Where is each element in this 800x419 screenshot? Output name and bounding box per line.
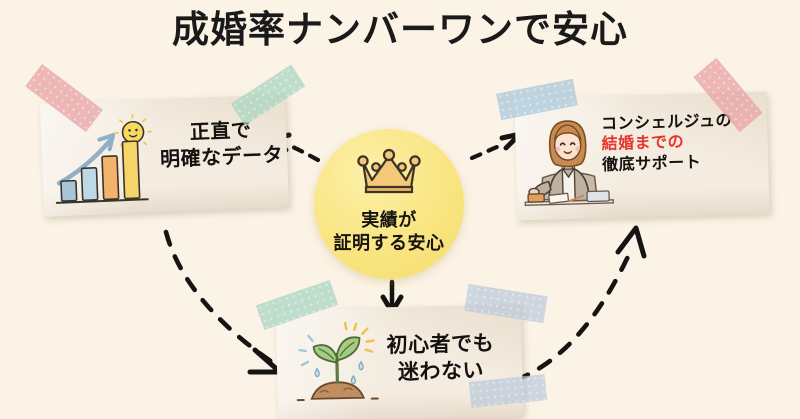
infographic-canvas: 成婚率ナンバーワンで安心 <box>0 0 800 419</box>
center-badge-line1: 実績が <box>314 209 464 232</box>
arrow-badge-to-support <box>472 134 520 158</box>
card-support-line1: コンシェルジュの <box>601 110 732 134</box>
card-support-line3: 徹底サポート <box>602 151 733 175</box>
card-data-text: 正直で 明確なデータ <box>159 116 284 172</box>
center-badge-label: 実績が 証明する安心 <box>314 209 464 256</box>
card-beginner-line1: 初心者でも <box>386 330 494 359</box>
card-beginner-text: 初心者でも 迷わない <box>386 330 495 386</box>
sprout-icon <box>288 319 386 409</box>
card-data-line2: 明確なデータ <box>160 142 284 173</box>
center-badge: 実績が 証明する安心 <box>314 129 464 279</box>
card-support-text: コンシェルジュの 結婚までの 徹底サポート <box>601 110 734 175</box>
bar-chart-growth-icon <box>48 113 160 209</box>
center-badge-line2: 証明する安心 <box>314 232 464 255</box>
crown-icon <box>355 146 423 196</box>
